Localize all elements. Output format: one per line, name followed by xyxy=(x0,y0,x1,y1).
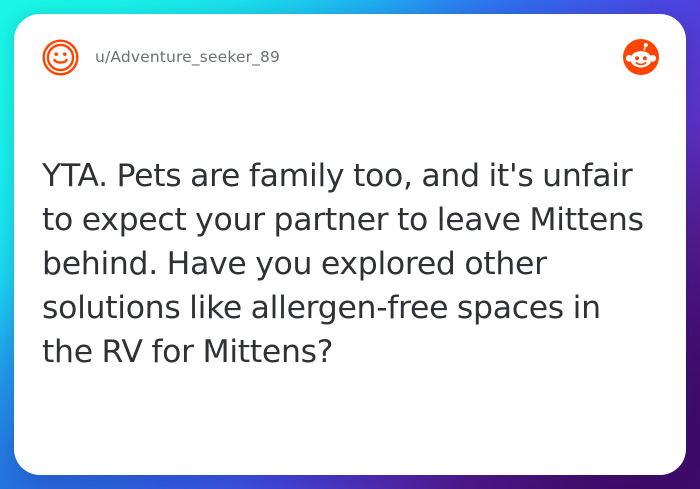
post-body: YTA. Pets are family too, and it's unfai… xyxy=(42,154,656,374)
username-label: u/Adventure_seeker_89 xyxy=(95,48,280,66)
reddit-snoo-icon xyxy=(622,38,660,76)
post-header: u/Adventure_seeker_89 xyxy=(14,14,686,100)
post-text: YTA. Pets are family too, and it's unfai… xyxy=(42,154,656,374)
smiley-face-icon xyxy=(42,39,79,76)
avatar[interactable] xyxy=(42,39,79,76)
reddit-logo[interactable] xyxy=(622,38,660,76)
screenshot-canvas: u/Adventure_seeker_89 xyxy=(0,0,700,489)
reddit-post-card: u/Adventure_seeker_89 xyxy=(14,14,686,475)
